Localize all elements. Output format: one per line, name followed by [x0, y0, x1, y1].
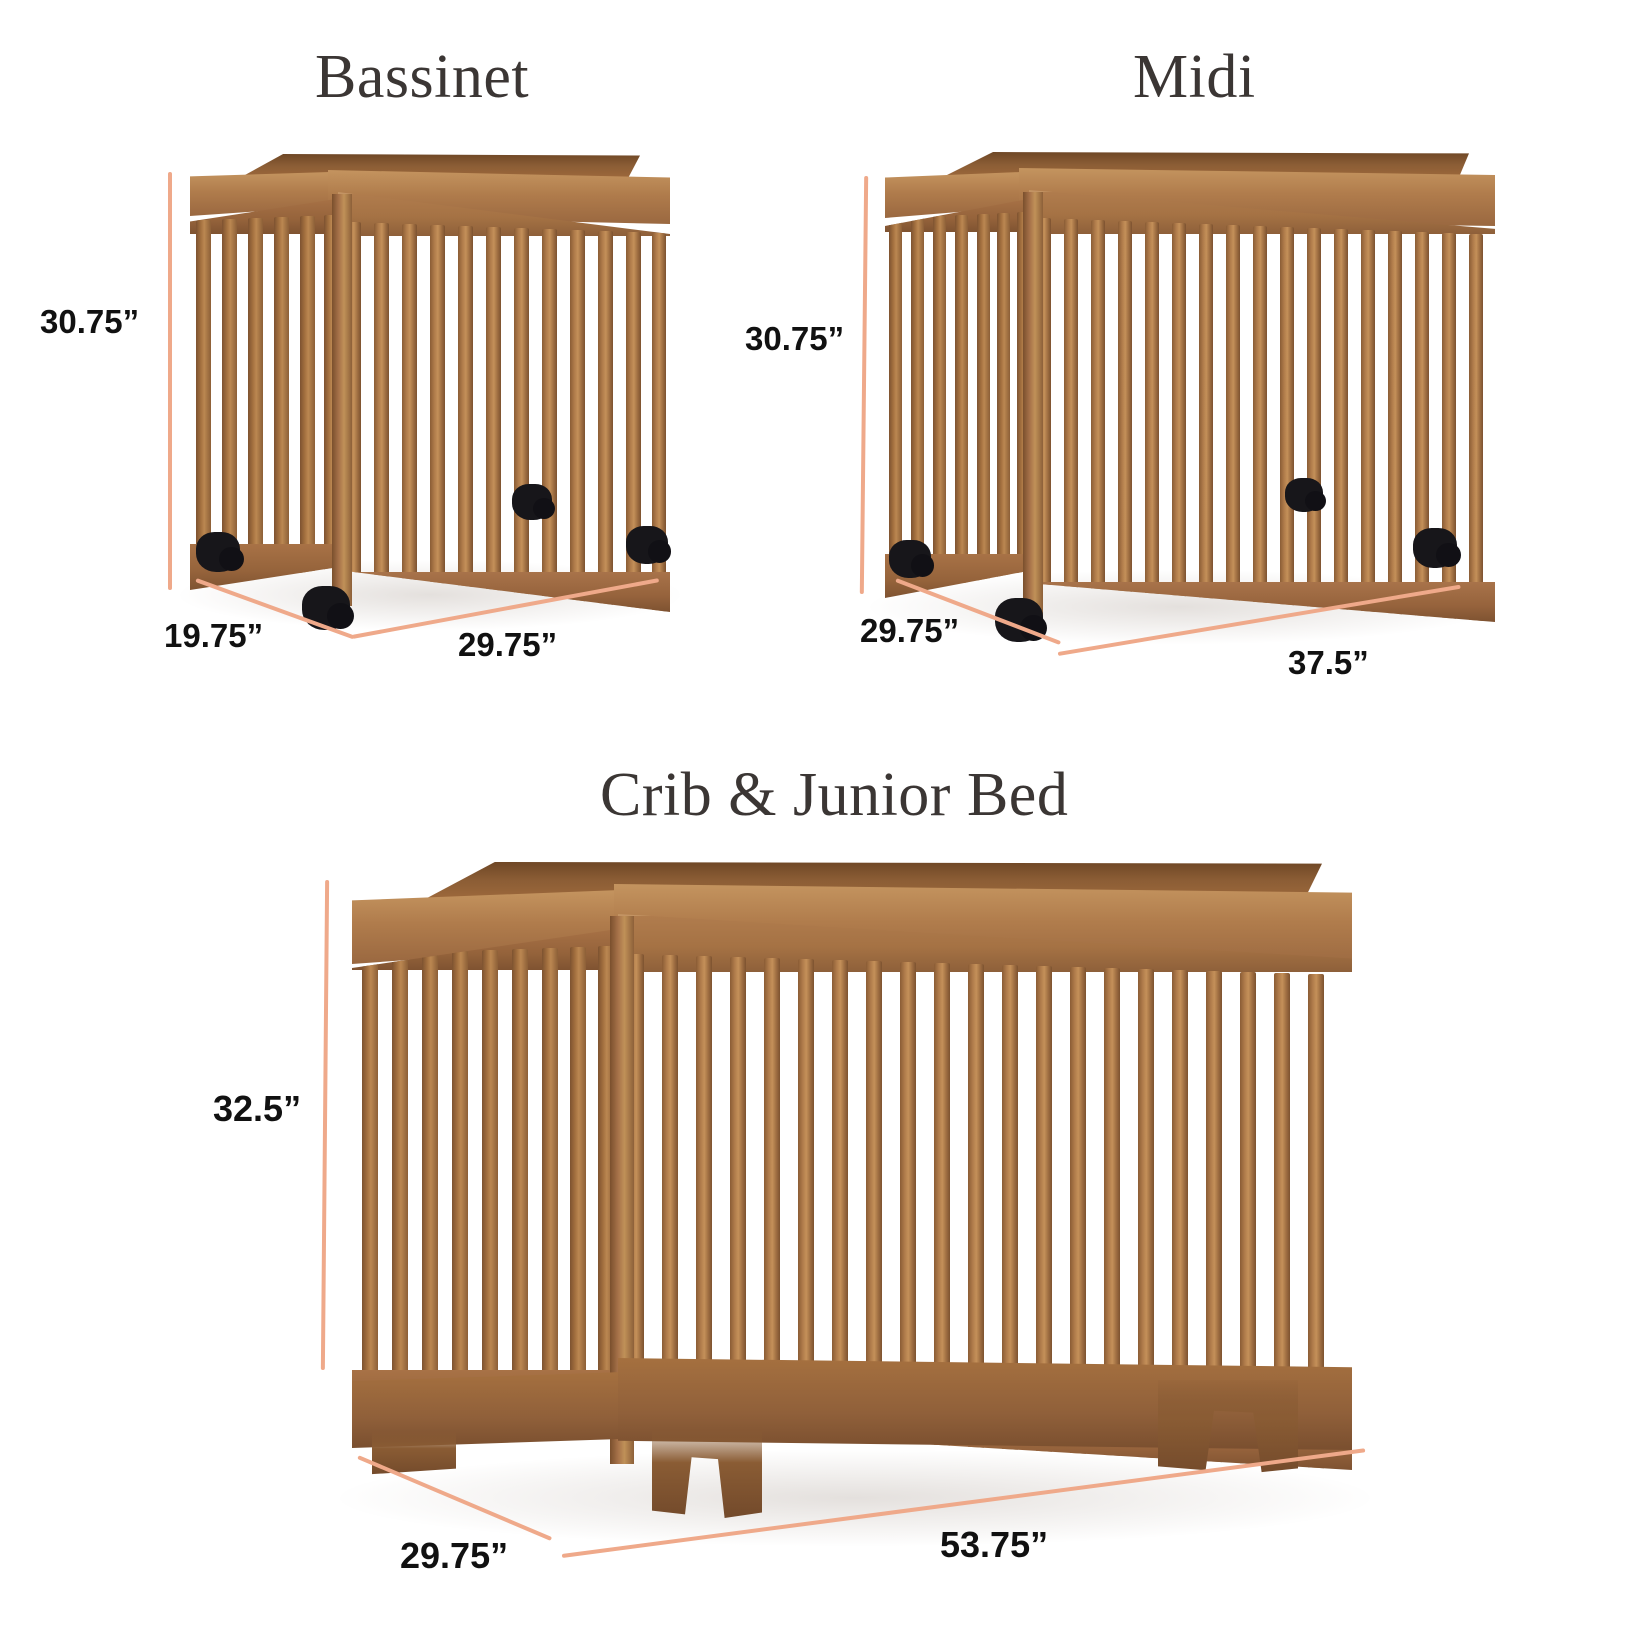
midi-caster-rear-right [1285, 478, 1323, 512]
crib-side-panel [352, 928, 624, 1428]
midi-caster-front-right [1413, 528, 1457, 568]
midi-width-label: 37.5” [1288, 644, 1369, 682]
midi-height-label: 30.75” [745, 320, 844, 358]
crib-height-label: 32.5” [213, 1088, 301, 1130]
product-heading-bassinet: Bassinet [315, 42, 529, 113]
bassinet-height-label: 30.75” [40, 303, 139, 341]
crib-width-label: 53.75” [940, 1524, 1048, 1566]
bassinet-caster-rear-left [196, 532, 240, 572]
bassinet-depth-label: 19.75” [164, 617, 263, 655]
diagram-canvas: Bassinet Midi Crib & Junior Bed [0, 0, 1648, 1648]
midi-side-panel [885, 198, 1033, 598]
bassinet-corner-post [332, 194, 352, 606]
midi-corner-post [1023, 192, 1043, 616]
crib-depth-label: 29.75” [400, 1535, 508, 1577]
midi-caster-rear-left [889, 540, 931, 578]
bassinet-caster-front-right [626, 526, 668, 564]
bassinet-front-panel [338, 192, 670, 612]
product-illustration-crib [352, 860, 1352, 1500]
bassinet-height-line [168, 172, 172, 590]
midi-depth-label: 29.75” [860, 612, 959, 650]
crib-height-line [321, 880, 329, 1370]
product-heading-crib: Crib & Junior Bed [600, 760, 1068, 831]
product-illustration-bassinet [190, 150, 670, 620]
midi-height-line [860, 176, 868, 594]
bassinet-width-label: 29.75” [458, 626, 557, 664]
bassinet-caster-rear-right [512, 484, 552, 520]
product-illustration-midi [885, 150, 1495, 630]
product-heading-midi: Midi [1133, 42, 1256, 113]
